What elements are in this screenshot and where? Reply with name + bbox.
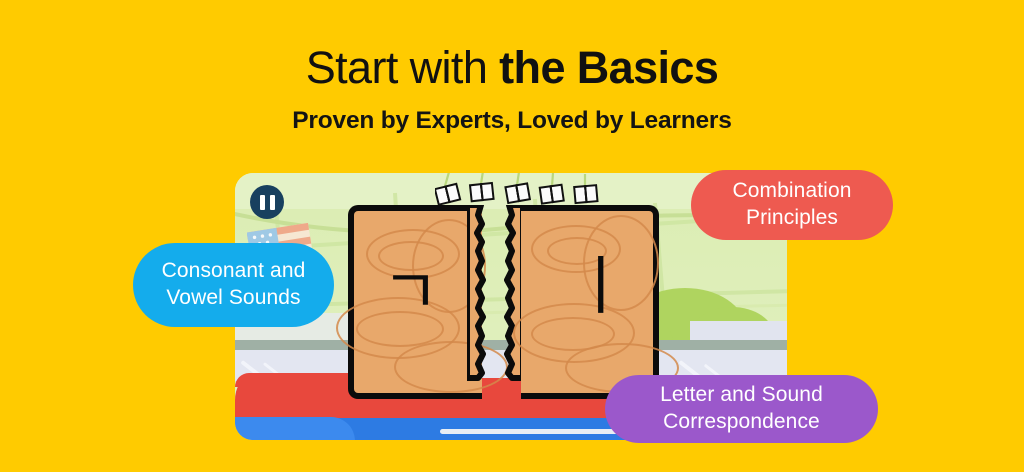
wood-block-left[interactable]: ㄱ — [348, 205, 482, 399]
pill-red-text: Combination Principles — [733, 178, 852, 232]
pill-purple-line2: Correspondence — [663, 410, 820, 433]
pill-letter-sound-correspondence[interactable]: Letter and Sound Correspondence — [605, 375, 878, 443]
block-left-jamo: ㄱ — [382, 261, 439, 323]
block-right-jamo: ㅣ — [571, 255, 630, 319]
pill-red-line1: Combination — [733, 179, 852, 202]
page-title-emphasis: the Basics — [499, 42, 718, 93]
page-title: Start with the Basics — [0, 44, 1024, 93]
wood-block-right[interactable]: ㅣ — [521, 205, 659, 399]
torn-edge-left — [467, 205, 493, 387]
page-subtitle: Proven by Experts, Loved by Learners — [0, 107, 1024, 135]
pill-consonant-vowel-sounds[interactable]: Consonant and Vowel Sounds — [133, 243, 334, 327]
promo-banner: Start with the Basics Proven by Experts,… — [0, 0, 1024, 472]
torn-edge-right — [497, 205, 523, 387]
pill-purple-line1: Letter and Sound — [660, 383, 823, 406]
page-title-regular: Start with — [306, 42, 499, 93]
pill-blue-text: Consonant and Vowel Sounds — [162, 258, 306, 312]
pill-red-line2: Principles — [746, 206, 838, 229]
pause-icon-bar-left — [260, 195, 265, 210]
book-icon — [435, 183, 597, 205]
pause-button[interactable] — [250, 185, 284, 219]
pill-blue-line1: Consonant and — [162, 259, 306, 282]
pause-icon-bar-right — [270, 195, 275, 210]
pill-combination-principles[interactable]: Combination Principles — [691, 170, 893, 240]
desk-highlight — [235, 417, 355, 440]
heading-block: Start with the Basics Proven by Experts,… — [0, 44, 1024, 135]
pill-purple-text: Letter and Sound Correspondence — [660, 382, 823, 436]
pill-blue-line2: Vowel Sounds — [166, 286, 300, 309]
